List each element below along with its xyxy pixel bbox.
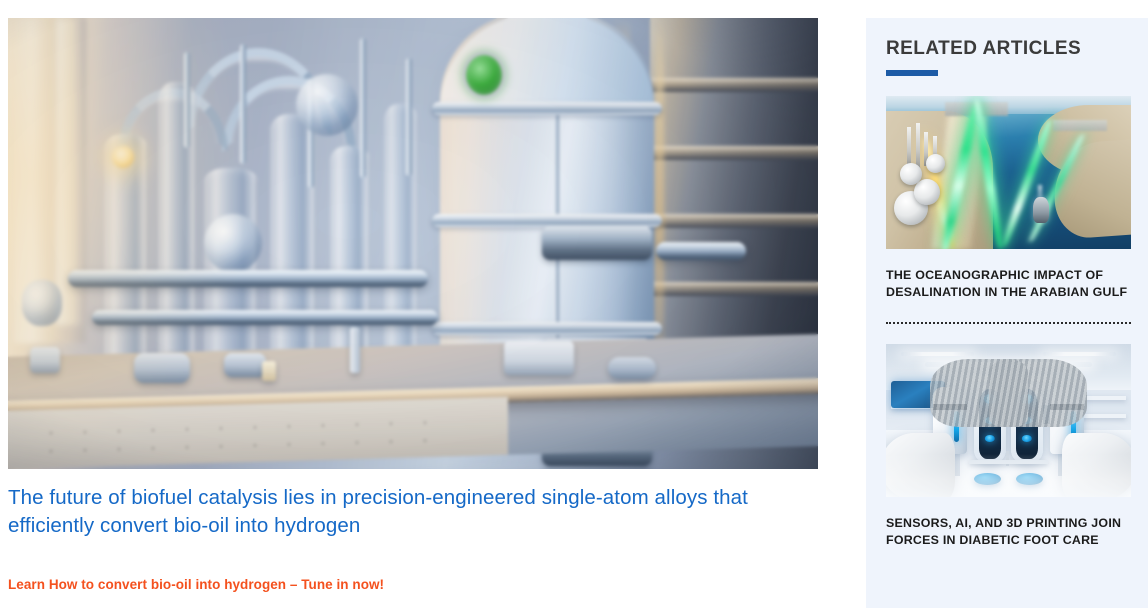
main-content-column: The future of biofuel catalysis lies in … [8,18,818,592]
related-article-title[interactable]: THE OCEANOGRAPHIC IMPACT OF DESALINATION… [886,267,1130,301]
hero-image-artwork [8,18,818,469]
related-article-item: SENSORS, AI, AND 3D PRINTING JOIN FORCES… [886,344,1130,549]
page-root: The future of biofuel catalysis lies in … [0,0,1148,608]
related-article-item: THE OCEANOGRAPHIC IMPACT OF DESALINATION… [886,96,1130,301]
reactor-gauge [463,52,505,98]
sidebar-divider [886,322,1131,324]
sidebar-heading: RELATED ARTICLES [886,38,1130,60]
article-title-link[interactable]: The future of biofuel catalysis lies in … [8,484,808,540]
ship-icon [1033,197,1049,223]
related-article-thumbnail[interactable] [886,344,1131,497]
related-articles-sidebar: RELATED ARTICLES [866,18,1148,608]
article-cta-link[interactable]: Learn How to convert bio-oil into hydrog… [8,577,818,592]
hero-image[interactable] [8,18,818,469]
related-article-thumbnail[interactable] [886,96,1131,249]
sidebar-heading-underline [886,70,938,76]
related-article-title[interactable]: SENSORS, AI, AND 3D PRINTING JOIN FORCES… [886,515,1130,549]
